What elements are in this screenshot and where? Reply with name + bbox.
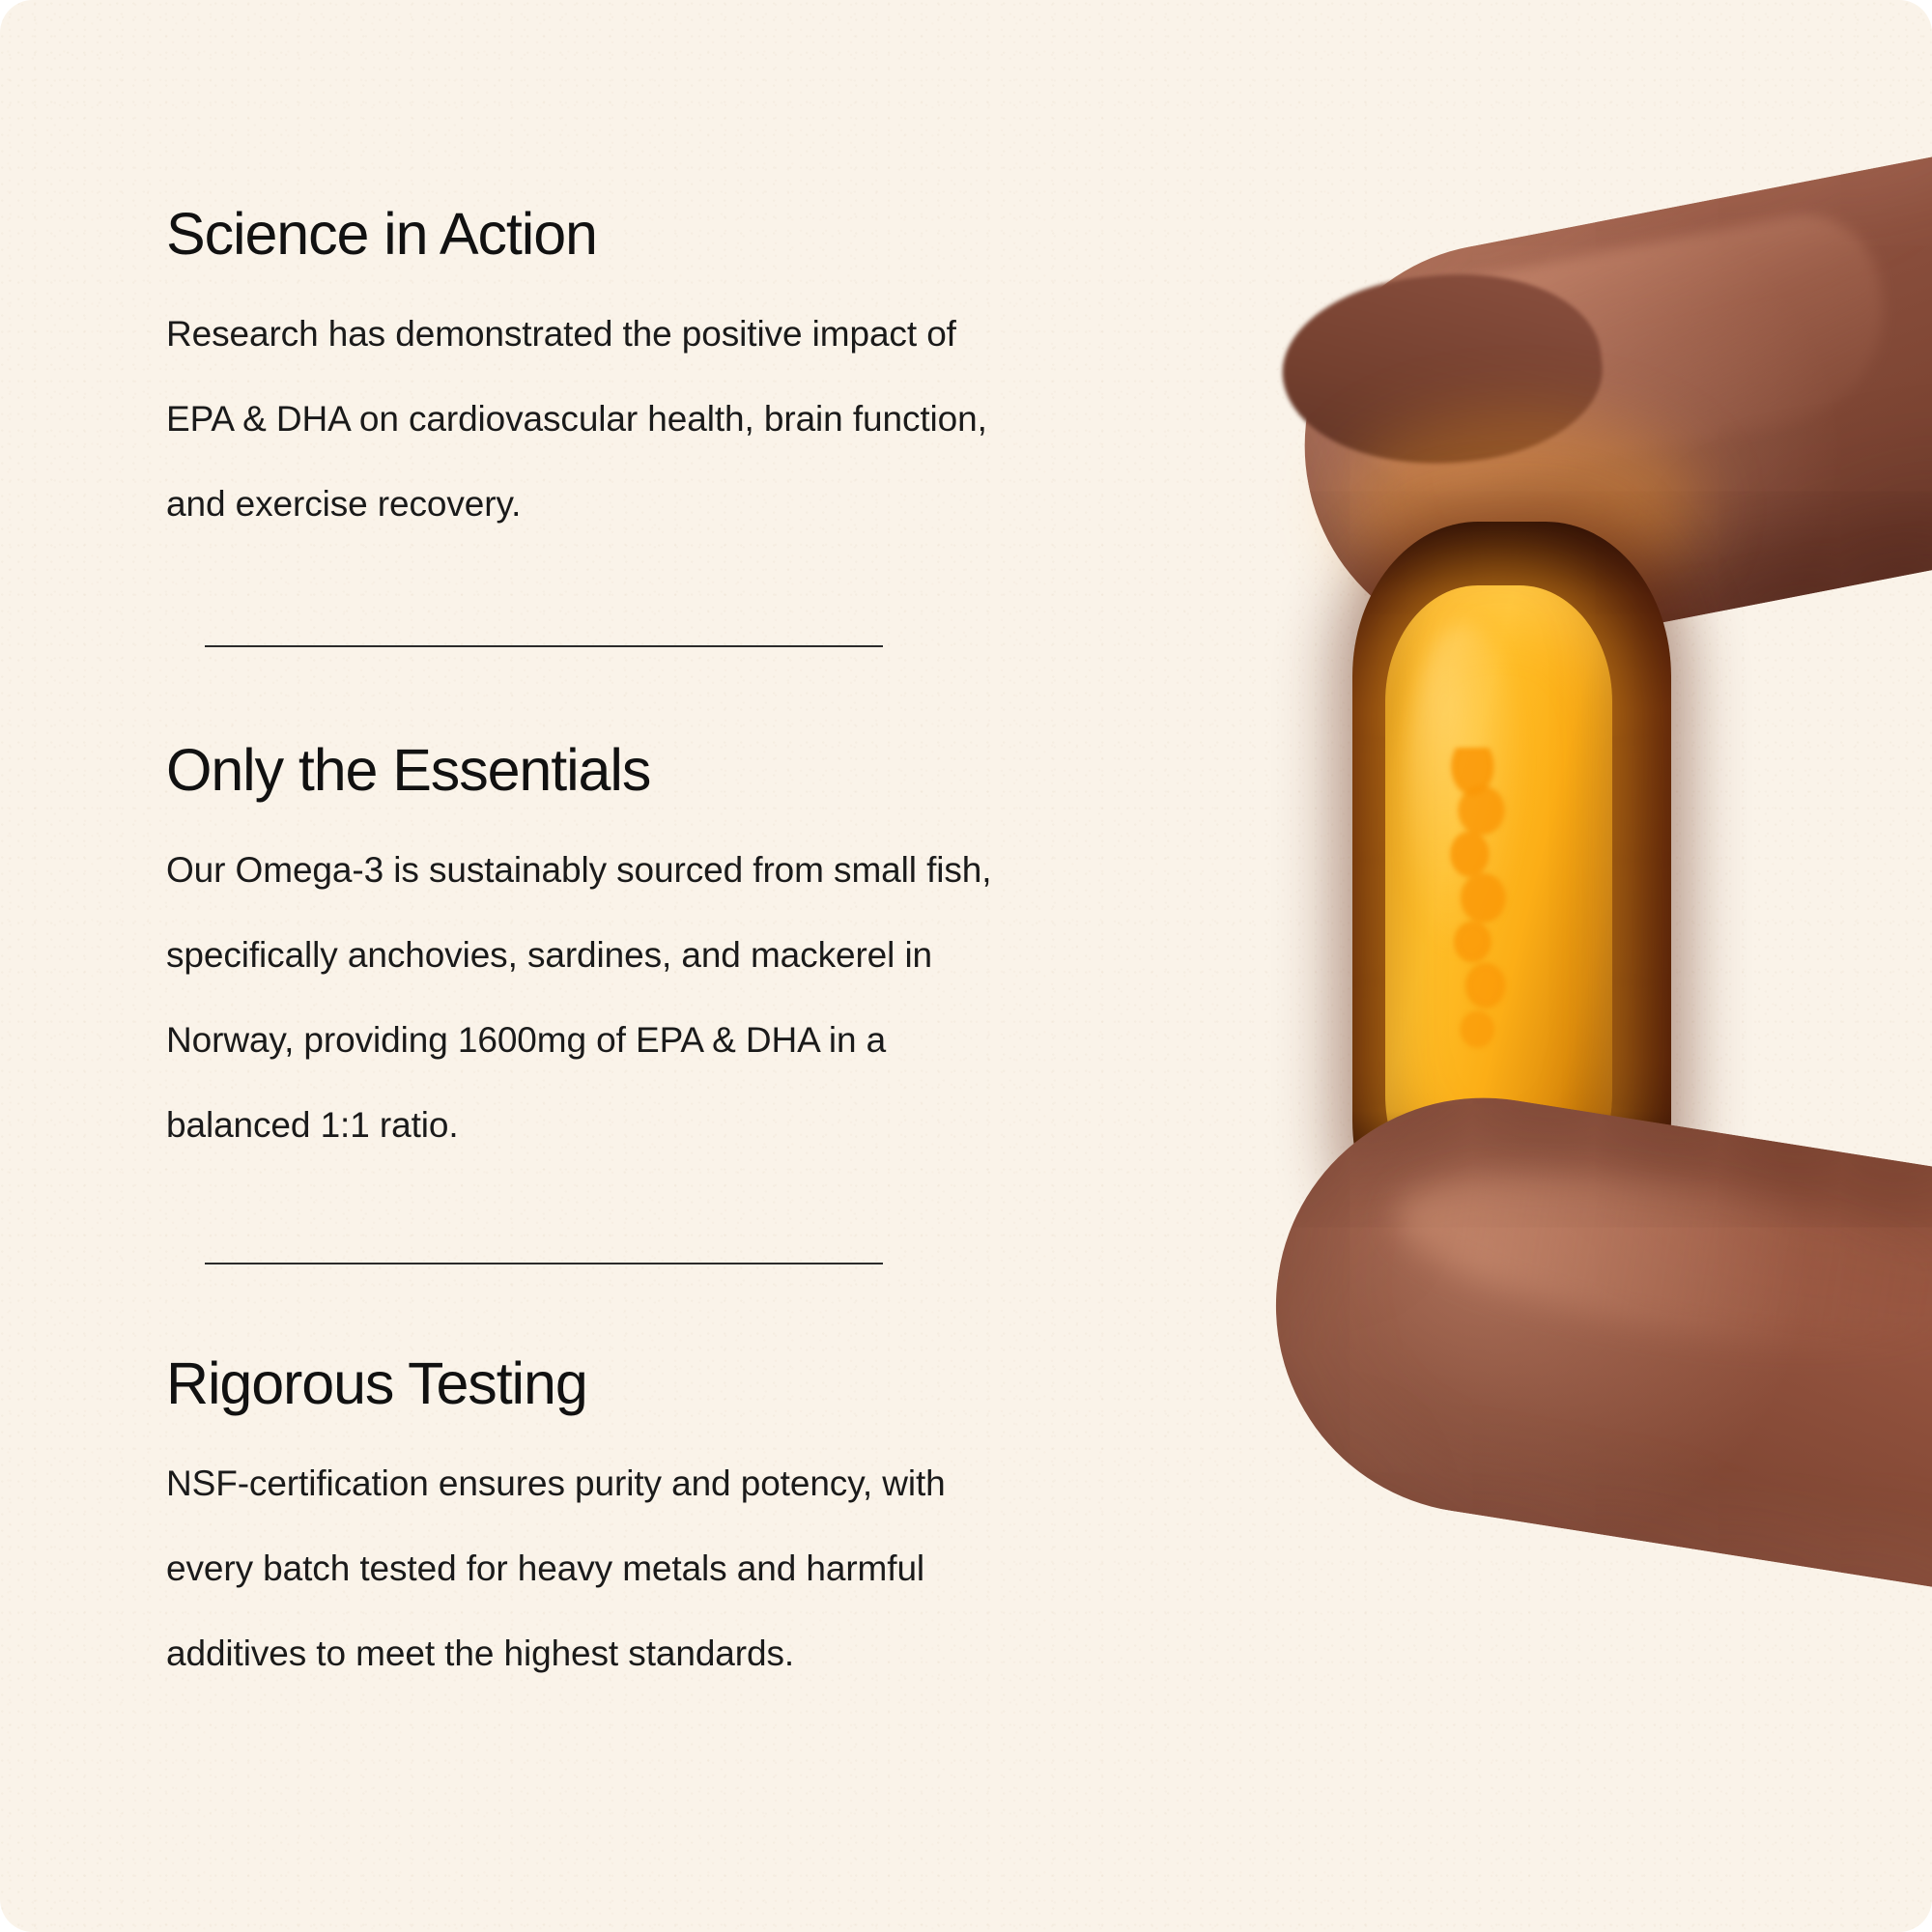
text-column: Science in Action Research has demonstra… [166, 0, 1209, 1932]
body-line: and exercise recovery. [166, 462, 1036, 547]
capsule-photo [1198, 0, 1932, 1932]
capsule-inner-bubbles [1449, 748, 1508, 1061]
section-body: Research has demonstrated the positive i… [166, 292, 1036, 547]
section-only-the-essentials: Only the Essentials Our Omega-3 is susta… [166, 739, 1209, 1168]
section-divider [205, 645, 883, 647]
section-science-in-action: Science in Action Research has demonstra… [166, 203, 1209, 547]
section-divider [205, 1263, 883, 1264]
body-line: Norway, providing 1600mg of EPA & DHA in… [166, 998, 1036, 1083]
body-line: EPA & DHA on cardiovascular health, brai… [166, 377, 1036, 462]
bottom-finger-highlight [1384, 1142, 1932, 1378]
body-line: Research has demonstrated the positive i… [166, 292, 1036, 377]
body-line: specifically anchovies, sardines, and ma… [166, 913, 1036, 998]
body-line: additives to meet the highest standards. [166, 1611, 1036, 1696]
section-heading: Science in Action [166, 203, 1209, 265]
section-heading: Rigorous Testing [166, 1352, 1209, 1414]
section-body: NSF-certification ensures purity and pot… [166, 1441, 1036, 1696]
body-line: Our Omega-3 is sustainably sourced from … [166, 828, 1036, 913]
product-info-card: Science in Action Research has demonstra… [0, 0, 1932, 1932]
body-line: balanced 1:1 ratio. [166, 1083, 1036, 1168]
section-heading: Only the Essentials [166, 739, 1209, 801]
section-rigorous-testing: Rigorous Testing NSF-certification ensur… [166, 1352, 1209, 1696]
body-line: every batch tested for heavy metals and … [166, 1526, 1036, 1611]
bottom-finger [1246, 1068, 1932, 1621]
body-line: NSF-certification ensures purity and pot… [166, 1441, 1036, 1526]
section-body: Our Omega-3 is sustainably sourced from … [166, 828, 1036, 1168]
